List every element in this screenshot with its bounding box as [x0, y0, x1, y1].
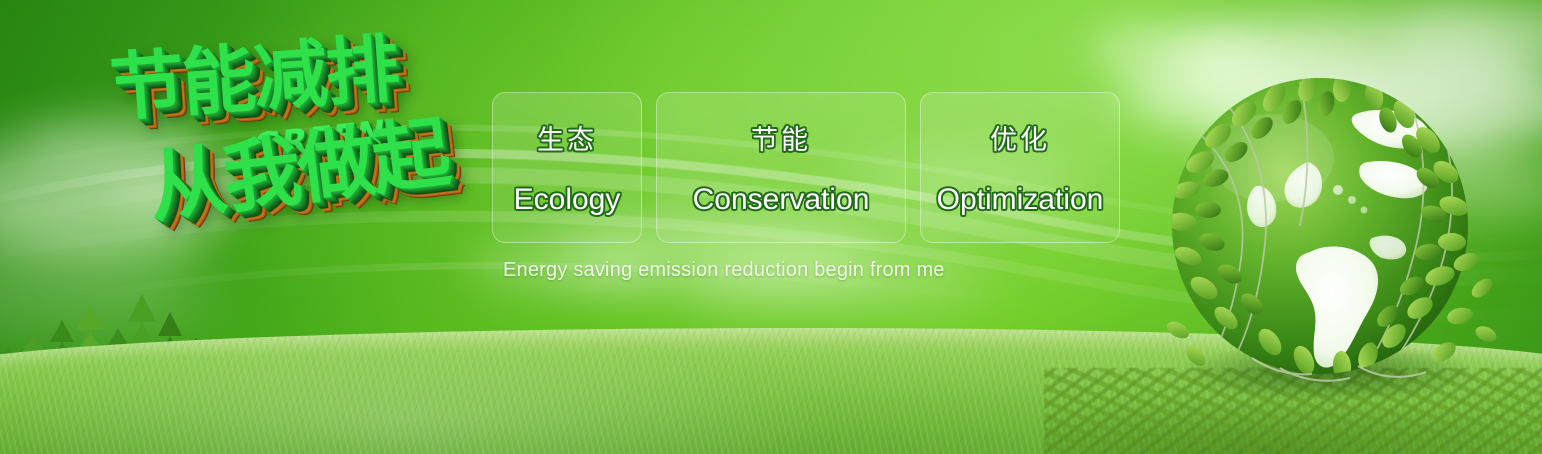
- title-char: 减: [251, 37, 328, 116]
- title-line-1: 节 能 减 排: [108, 32, 400, 126]
- globe-svg: [1160, 66, 1500, 410]
- feature-card-group: 生态 Ecology 节能 Conservation 优化 Optimizati…: [492, 92, 1120, 243]
- card-title-cn: 节能: [751, 118, 811, 157]
- title-char: 做: [293, 123, 377, 210]
- green-energy-banner: 节 能 减 排 GREEN 从 我 做 起 生态 Ecology 节能 Cons…: [0, 0, 1542, 454]
- tagline-text: Energy saving emission reduction begin f…: [503, 259, 945, 282]
- feature-card-ecology[interactable]: 生态 Ecology: [492, 92, 642, 243]
- title-char: 起: [368, 114, 452, 201]
- title-char: 从: [144, 141, 228, 228]
- hero-title-3d: 节 能 减 排 GREEN 从 我 做 起: [100, 40, 490, 270]
- feature-card-conservation[interactable]: 节能 Conservation: [656, 92, 906, 243]
- leaf-globe: [1160, 66, 1500, 410]
- title-char: 排: [323, 32, 400, 111]
- title-char: 能: [180, 42, 257, 121]
- card-title-cn: 优化: [990, 118, 1050, 157]
- card-title-en: Ecology: [514, 183, 621, 217]
- title-line-2: 从 我 做 起: [144, 114, 451, 228]
- title-char: 节: [108, 47, 185, 126]
- card-title-en: Conservation: [693, 183, 870, 217]
- title-char: 我: [219, 132, 303, 219]
- feature-card-optimization[interactable]: 优化 Optimization: [920, 92, 1120, 243]
- card-title-en: Optimization: [937, 183, 1104, 217]
- card-title-cn: 生态: [537, 118, 597, 157]
